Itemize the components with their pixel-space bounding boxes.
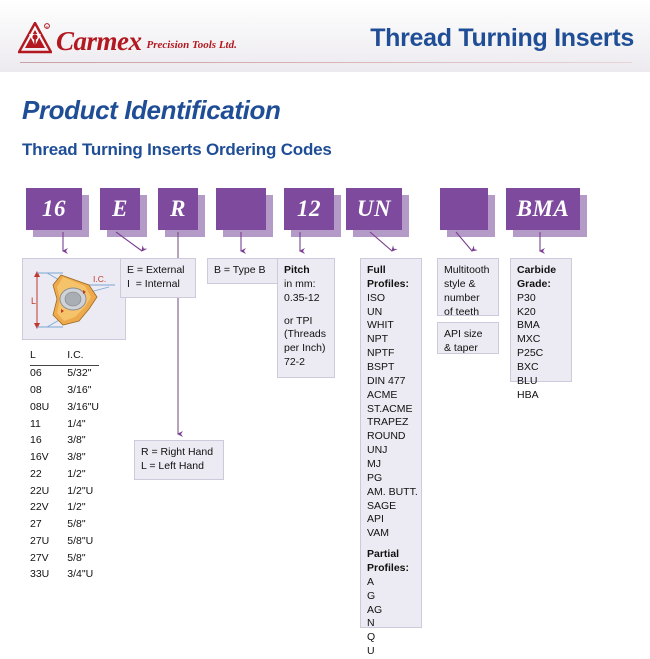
cell-ic: 3/16"U <box>49 399 99 416</box>
pitch-title: Pitch <box>284 264 328 278</box>
full-profile-item: DIN 477 <box>367 375 415 389</box>
grade-item: BXC <box>517 361 565 375</box>
profiles-card: Full Profiles: ISOUNWHITNPTNPTFBSPTDIN 4… <box>360 258 422 628</box>
pitch-mm-range: 0.35-12 <box>284 292 328 306</box>
full-profiles-list: ISOUNWHITNPTNPTFBSPTDIN 477ACMEST.ACMETR… <box>367 292 415 541</box>
table-row: 083/16" <box>30 383 99 400</box>
right-hand-line: R = Right Hand <box>141 446 217 460</box>
table-row: 275/8" <box>30 517 99 534</box>
grade-item: P30 <box>517 292 565 306</box>
full-profile-item: UNJ <box>367 444 415 458</box>
partial-profile-item: N <box>367 617 415 631</box>
table-row: 33U3/4"U <box>30 567 99 584</box>
cell-l: 11 <box>30 416 49 433</box>
pitch-card: Pitch in mm: 0.35-12 or TPI (Threads per… <box>277 258 335 378</box>
full-profile-item: ST.ACME <box>367 403 415 417</box>
svg-text:L: L <box>31 296 36 306</box>
grade-item: K20 <box>517 306 565 320</box>
grade-list: P30K20BMAMXCP25CBXCBLUHBA <box>517 292 565 403</box>
cell-ic: 1/2" <box>49 500 99 517</box>
cell-l: 22U <box>30 483 49 500</box>
cell-l: 22 <box>30 466 49 483</box>
grade-item: BMA <box>517 319 565 333</box>
cell-l: 06 <box>30 365 49 382</box>
full-profile-item: UN <box>367 306 415 320</box>
table-row: 22V1/2" <box>30 500 99 517</box>
cell-ic: 1/2" <box>49 466 99 483</box>
pitch-tpi-label: or TPI <box>284 315 328 329</box>
cell-l: 22V <box>30 500 49 517</box>
partial-profiles-title-1: Partial <box>367 548 415 562</box>
pitch-tpi-note2: per Inch) <box>284 342 328 356</box>
multitooth-line-4: of teeth <box>444 306 492 320</box>
external-line: E = External <box>127 264 189 278</box>
multitooth-line-2: style & <box>444 278 492 292</box>
col-header-l: L <box>30 348 49 365</box>
full-profile-item: VAM <box>367 527 415 541</box>
type-b-line: B = Type B <box>214 264 272 278</box>
full-profile-item: BSPT <box>367 361 415 375</box>
svg-text:I.C.: I.C. <box>93 274 106 284</box>
pitch-tpi-range: 72-2 <box>284 356 328 370</box>
grade-item: MXC <box>517 333 565 347</box>
cell-l: 16 <box>30 433 49 450</box>
table-row: 27V5/8" <box>30 550 99 567</box>
hand-type-card: E = External I = Internal <box>120 258 196 298</box>
full-profile-item: ISO <box>367 292 415 306</box>
size-table-body: 065/32"083/16"08U3/16"U111/4"163/8"16V3/… <box>30 365 99 583</box>
partial-profiles-list: AGAGNQU <box>367 576 415 659</box>
partial-profile-item: G <box>367 590 415 604</box>
cell-l: 16V <box>30 450 49 467</box>
cell-ic: 5/8" <box>49 550 99 567</box>
partial-profile-item: A <box>367 576 415 590</box>
multitooth-line-1: Multitooth <box>444 264 492 278</box>
col-header-ic: I.C. <box>49 348 99 365</box>
partial-profile-item: AG <box>367 604 415 618</box>
cell-l: 33U <box>30 567 49 584</box>
cell-ic: 3/4"U <box>49 567 99 584</box>
api-line-1: API size <box>444 328 492 342</box>
full-profile-item: API <box>367 513 415 527</box>
table-row: 163/8" <box>30 433 99 450</box>
full-profile-item: ROUND <box>367 430 415 444</box>
table-row: 065/32" <box>30 365 99 382</box>
left-hand-line: L = Left Hand <box>141 460 217 474</box>
full-profiles-title-2: Profiles: <box>367 278 415 292</box>
partial-profile-item: U <box>367 645 415 659</box>
grade-title-1: Carbide <box>517 264 565 278</box>
pitch-mm-label: in mm: <box>284 278 328 292</box>
table-row: 111/4" <box>30 416 99 433</box>
partial-profiles-title-2: Profiles: <box>367 562 415 576</box>
full-profiles-title-1: Full <box>367 264 415 278</box>
full-profile-item: PG <box>367 472 415 486</box>
table-row: 22U1/2"U <box>30 483 99 500</box>
grade-item: BLU <box>517 375 565 389</box>
cell-ic: 3/16" <box>49 383 99 400</box>
cell-l: 27V <box>30 550 49 567</box>
api-line-2: & taper <box>444 342 492 356</box>
multitooth-card: Multitooth style & number of teeth <box>437 258 499 316</box>
cell-l: 08 <box>30 383 49 400</box>
full-profile-item: AM. BUTT. <box>367 486 415 500</box>
full-profile-item: SAGE <box>367 500 415 514</box>
size-table: L I.C. 065/32"083/16"08U3/16"U111/4"163/… <box>30 348 99 584</box>
table-row: 16V3/8" <box>30 450 99 467</box>
full-profile-item: NPTF <box>367 347 415 361</box>
cell-ic: 5/8"U <box>49 533 99 550</box>
grade-title-2: Grade: <box>517 278 565 292</box>
insert-dimension-card: L I.C. <box>22 258 126 340</box>
cell-ic: 1/2"U <box>49 483 99 500</box>
cell-l: 08U <box>30 399 49 416</box>
pitch-tpi-note1: (Threads <box>284 328 328 342</box>
type-card: B = Type B <box>207 258 279 284</box>
full-profile-item: MJ <box>367 458 415 472</box>
carbide-grade-card: Carbide Grade: P30K20BMAMXCP25CBXCBLUHBA <box>510 258 572 382</box>
cell-l: 27U <box>30 533 49 550</box>
partial-profile-item: Q <box>367 631 415 645</box>
full-profile-item: WHIT <box>367 319 415 333</box>
table-header-row: L I.C. <box>30 348 99 365</box>
grade-item: P25C <box>517 347 565 361</box>
cell-l: 27 <box>30 517 49 534</box>
full-profile-item: ACME <box>367 389 415 403</box>
full-profile-item: TRAPEZ <box>367 416 415 430</box>
table-row: 27U5/8"U <box>30 533 99 550</box>
cell-ic: 1/4" <box>49 416 99 433</box>
cell-ic: 5/32" <box>49 365 99 382</box>
cell-ic: 3/8" <box>49 450 99 467</box>
table-row: 08U3/16"U <box>30 399 99 416</box>
table-row: 221/2" <box>30 466 99 483</box>
direction-card: R = Right Hand L = Left Hand <box>134 440 224 480</box>
insert-illustration: L I.C. <box>23 259 125 339</box>
multitooth-line-3: number <box>444 292 492 306</box>
full-profile-item: NPT <box>367 333 415 347</box>
cell-ic: 3/8" <box>49 433 99 450</box>
cell-ic: 5/8" <box>49 517 99 534</box>
api-card: API size & taper <box>437 322 499 354</box>
internal-line: I = Internal <box>127 278 189 292</box>
grade-item: HBA <box>517 389 565 403</box>
